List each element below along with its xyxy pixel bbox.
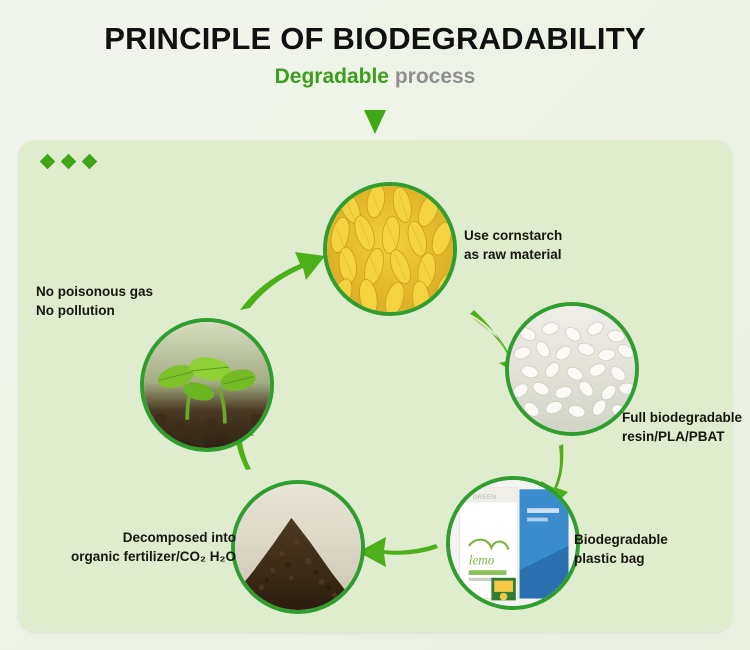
step-image-resin (505, 302, 639, 436)
step-label-compost: Decomposed into organic fertilizer/CO₂ H… (46, 528, 236, 566)
step-label-line: No poisonous gas (36, 282, 153, 301)
step-label-line: Decomposed into (46, 528, 236, 547)
subtitle-accent: Degradable (275, 65, 389, 88)
down-arrow-icon (360, 110, 390, 136)
svg-text:lemo: lemo (469, 553, 495, 568)
step-label-line: plastic bag (574, 549, 668, 568)
step-image-sprout (140, 318, 274, 452)
page-subtitle: Degradable process (0, 65, 750, 89)
decor-dots (42, 156, 95, 167)
step-label-no-pollution: No poisonous gas No pollution (36, 282, 153, 320)
step-label-plastic-bag: Biodegradable plastic bag (574, 530, 668, 568)
header: PRINCIPLE OF BIODEGRADABILITY Degradable… (0, 22, 750, 89)
step-label-line: Use cornstarch (464, 226, 562, 245)
step-label-line: Biodegradable (574, 530, 668, 549)
svg-text:GREEN: GREEN (473, 494, 497, 501)
step-label-line: No pollution (36, 301, 153, 320)
step-label-line: Full biodegradable (622, 408, 742, 427)
step-image-plastic-bag: GREEN lemo (446, 476, 580, 610)
diagram-panel: GREEN lemo (18, 140, 732, 632)
diamond-dot-icon (61, 154, 77, 170)
subtitle-rest: process (389, 65, 475, 88)
poster-root: PRINCIPLE OF BIODEGRADABILITY Degradable… (0, 0, 750, 650)
step-label-cornstarch: Use cornstarch as raw material (464, 226, 562, 264)
step-label-resin: Full biodegradable resin/PLA/PBAT (622, 408, 742, 446)
diamond-dot-icon (40, 154, 56, 170)
step-label-line: organic fertilizer/CO₂ H₂O (46, 547, 236, 566)
diamond-dot-icon (82, 154, 98, 170)
page-title: PRINCIPLE OF BIODEGRADABILITY (0, 22, 750, 56)
step-image-compost (231, 480, 365, 614)
step-label-line: as raw material (464, 245, 562, 264)
step-image-cornstarch (323, 182, 457, 316)
step-label-line: resin/PLA/PBAT (622, 427, 742, 446)
